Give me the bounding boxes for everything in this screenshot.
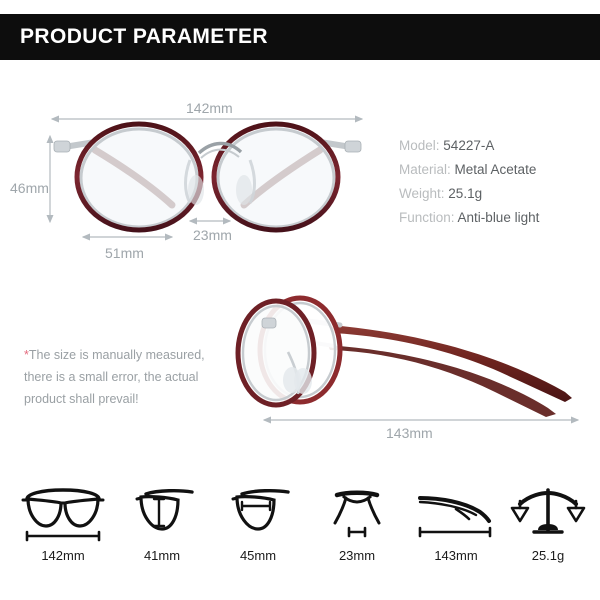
- spec-value-function: Anti-blue light: [458, 210, 540, 225]
- spec-icon-label-bridge-width: 23mm: [307, 548, 407, 563]
- lens-height-icon: [112, 478, 212, 546]
- front-height-label: 46mm: [10, 180, 49, 196]
- spec-icon-label-temple-length: 143mm: [406, 548, 506, 563]
- front-width-label: 142mm: [186, 100, 233, 116]
- spec-row-model: Model: 54227-A: [399, 134, 599, 158]
- spec-icon-label-lens-height: 41mm: [112, 548, 212, 563]
- spec-icon-cell-lens-width: 45mm: [208, 478, 308, 563]
- disclaimer-line-1: *The size is manually measured,: [24, 344, 234, 366]
- spec-icon-cell-lens-height: 41mm: [112, 478, 212, 563]
- lens-width-icon: [208, 478, 308, 546]
- spec-icon-cell-frame-width: 142mm: [13, 478, 113, 563]
- temple-length-icon: [406, 478, 506, 546]
- spec-label-material: Material:: [399, 162, 451, 177]
- spec-icon-cell-temple-length: 143mm: [406, 478, 506, 563]
- spec-label-model: Model:: [399, 138, 440, 153]
- weight-scale-icon: [498, 478, 598, 546]
- spec-row-weight: Weight: 25.1g: [399, 182, 599, 206]
- side-temple-label: 143mm: [386, 425, 433, 441]
- spec-icon-label-lens-width: 45mm: [208, 548, 308, 563]
- header-bar: PRODUCT PARAMETER: [0, 14, 600, 60]
- frame-width-icon: [13, 478, 113, 546]
- glasses-front-art: [54, 124, 361, 230]
- spec-icon-cell-weight: 25.1g: [498, 478, 598, 563]
- page-title: PRODUCT PARAMETER: [0, 25, 268, 49]
- disclaimer-text-1: The size is manually measured,: [29, 348, 205, 362]
- spec-label-function: Function:: [399, 210, 455, 225]
- measurement-disclaimer: *The size is manually measured, there is…: [24, 344, 234, 410]
- spec-icon-label-frame-width: 142mm: [13, 548, 113, 563]
- specification-list: Model: 54227-A Material: Metal Acetate W…: [399, 134, 599, 230]
- spec-icon-label-weight: 25.1g: [498, 548, 598, 563]
- disclaimer-line-2: there is a small error, the actual: [24, 366, 234, 388]
- spec-row-material: Material: Metal Acetate: [399, 158, 599, 182]
- bridge-width-icon: [307, 478, 407, 546]
- spec-value-material: Metal Acetate: [455, 162, 537, 177]
- spec-value-weight: 25.1g: [448, 186, 482, 201]
- front-bridge-label: 23mm: [193, 227, 232, 243]
- spec-icon-cell-bridge-width: 23mm: [307, 478, 407, 563]
- disclaimer-line-3: product shall prevail!: [24, 388, 234, 410]
- product-parameter-page: PRODUCT PARAMETER: [0, 0, 600, 600]
- front-dimension-arrows: [50, 119, 362, 237]
- spec-icon-strip: 142mm 41mm: [0, 478, 600, 578]
- front-lens-width-label: 51mm: [105, 245, 144, 261]
- spec-label-weight: Weight:: [399, 186, 445, 201]
- glasses-side-art: [238, 298, 572, 417]
- spec-value-model: 54227-A: [443, 138, 494, 153]
- spec-row-function: Function: Anti-blue light: [399, 206, 599, 230]
